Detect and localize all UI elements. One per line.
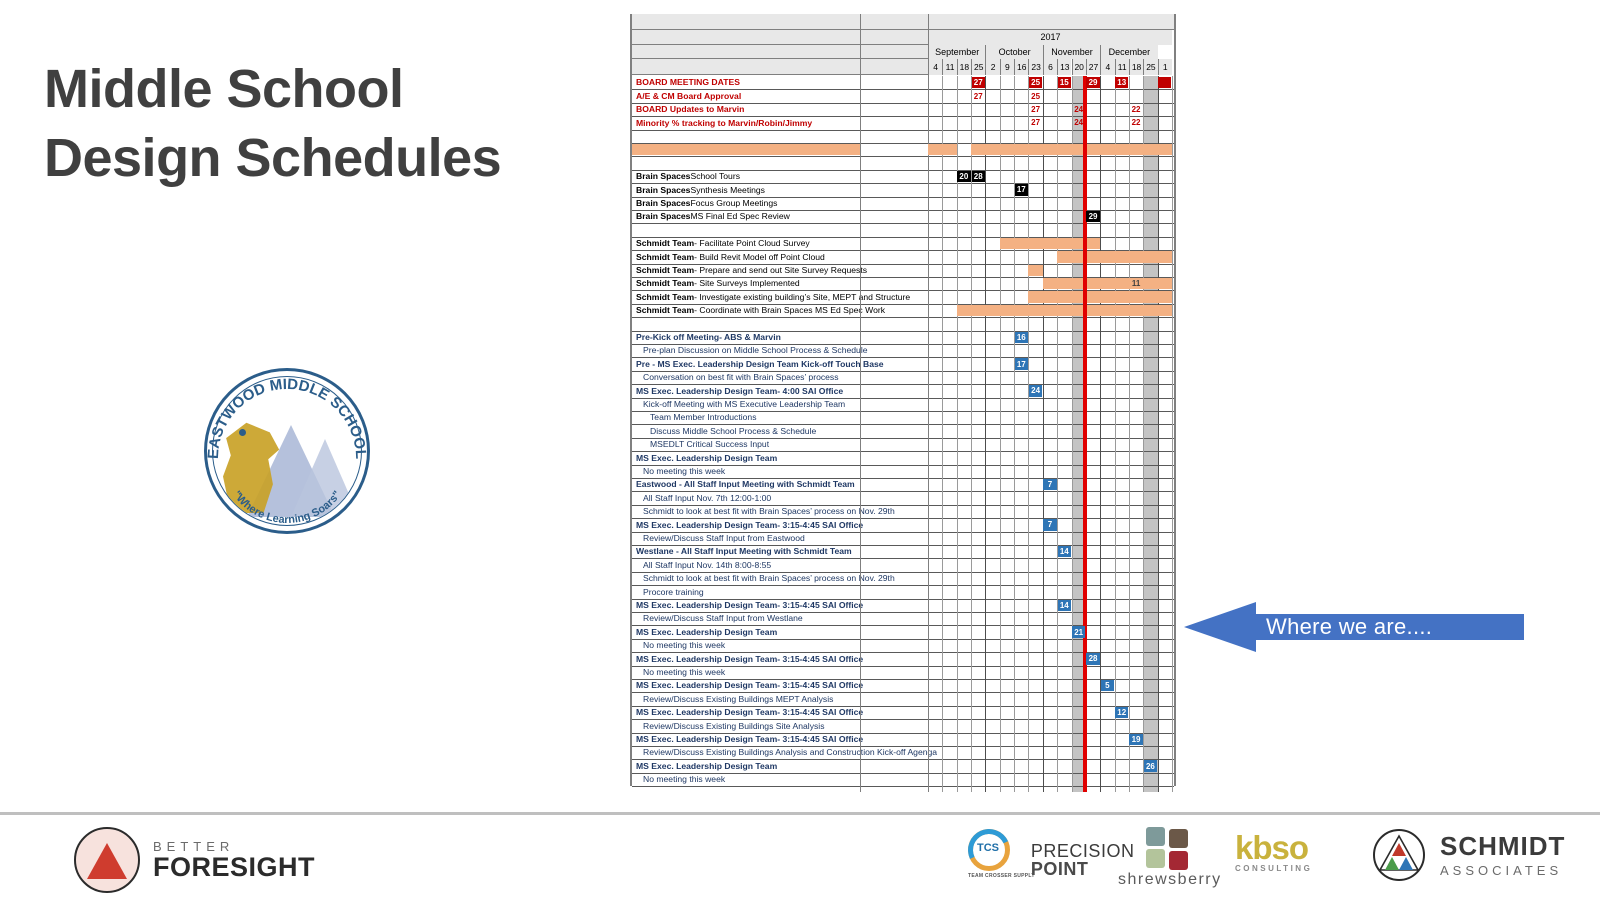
- table-row: [632, 156, 1174, 169]
- row-label-primary: Pre - MS Exec. Leadership Design Team Ki…: [636, 360, 884, 369]
- row-label-secondary: Schmidt to look at best fit with Brain S…: [643, 507, 895, 516]
- eastwood-middle-school-seal: EASTWOOD MIDDLE SCHOOL "Where Learning S…: [196, 362, 386, 544]
- date-badge: 17: [1015, 184, 1028, 195]
- gantt-month-header: October: [985, 45, 1042, 59]
- row-label-secondary: School Tours: [690, 172, 740, 181]
- row-label-secondary: - Coordinate with Brain Spaces MS Ed Spe…: [694, 306, 885, 315]
- row-label-secondary: Kick-off Meeting with MS Executive Leade…: [643, 400, 845, 409]
- schmidt-line1: SCHMIDT: [1440, 833, 1565, 859]
- row-label-primary: MS Exec. Leadership Design Team: [636, 601, 777, 610]
- row-label: MS Exec. Leadership Design Team - 3:15-4…: [636, 599, 863, 612]
- row-label-primary: Brain Spaces: [636, 172, 690, 181]
- row-label-secondary: Procore training: [643, 588, 704, 597]
- seal-lettering: EASTWOOD MIDDLE SCHOOL "Where Learning S…: [196, 362, 378, 544]
- row-label-secondary: Pre-plan Discussion on Middle School Pro…: [643, 346, 868, 355]
- row-label: Brain Spaces MS Final Ed Spec Review: [636, 210, 790, 223]
- gantt-week-header: 25: [971, 59, 985, 75]
- gantt-week-header: 1: [1158, 59, 1172, 75]
- gantt-week-header: 25: [1143, 59, 1157, 75]
- row-label: Minority % tracking to Marvin/Robin/Jimm…: [636, 116, 812, 129]
- grid-line: [1143, 76, 1144, 792]
- title-line-1: Middle School: [44, 55, 604, 124]
- row-label: Review/Discuss Existing Buildings Site A…: [643, 719, 825, 732]
- logo-better-foresight: BETTER FORESIGHT: [74, 827, 315, 893]
- row-label-secondary: - 3:15-4:45 SAI Office: [777, 521, 863, 530]
- row-label: Conversation on best fit with Brain Spac…: [643, 371, 839, 384]
- date-badge: 27: [972, 90, 985, 101]
- row-label-primary: MS Exec. Leadership Design Team: [636, 655, 777, 664]
- row-label: Schmidt Team - Coordinate with Brain Spa…: [636, 304, 885, 317]
- row-label: MS Exec. Leadership Design Team - 3:15-4…: [636, 706, 863, 719]
- grid-line: [1129, 76, 1130, 792]
- row-label-primary: Pre-Kick off Meeting: [636, 333, 719, 342]
- date-badge: 24: [1072, 104, 1085, 115]
- grid-line: [1028, 76, 1029, 792]
- row-label-primary: Brain Spaces: [636, 212, 690, 221]
- gantt-section-band: [632, 144, 860, 155]
- row-label-secondary: - 3:15-4:45 SAI Office: [777, 708, 863, 717]
- seal-name-text: EASTWOOD MIDDLE SCHOOL: [205, 376, 369, 460]
- row-label-primary: MS Exec. Leadership Design Team: [636, 735, 777, 744]
- row-label: MS Exec. Leadership Design Team - 4:00 S…: [636, 384, 843, 397]
- row-label-primary: MS Exec. Leadership Design Team: [636, 762, 777, 771]
- logo-tcs-precision-point: TCS TEAM CROSSER SUPPLY PRECISION POINT: [968, 829, 1134, 879]
- row-label: No meeting this week: [643, 666, 725, 679]
- row-label-primary: Schmidt Team: [636, 306, 694, 315]
- date-badge: 29: [1086, 211, 1099, 222]
- row-label: Review/Discuss Existing Buildings MEPT A…: [643, 692, 833, 705]
- row-label: All Staff Input Nov. 14th 8:00-8:55: [643, 558, 771, 571]
- row-label-primary: Westlane - All Staff Input Meeting with …: [636, 547, 852, 556]
- gantt-week-header: 18: [957, 59, 971, 75]
- gantt-bar: [957, 305, 1172, 316]
- table-row: [632, 130, 1174, 143]
- gantt-bar: [971, 144, 1172, 155]
- row-label-primary: Schmidt Team: [636, 253, 694, 262]
- gantt-week-header: 11: [1115, 59, 1129, 75]
- row-label-primary: Minority % tracking to Marvin/Robin/Jimm…: [636, 119, 812, 128]
- row-label: Schmidt Team - Site Surveys Implemented: [636, 277, 800, 290]
- row-label-secondary: - Investigate existing building’s Site, …: [694, 293, 910, 302]
- row-label-secondary: Conversation on best fit with Brain Spac…: [643, 373, 839, 382]
- schmidt-line2: ASSOCIATES: [1440, 864, 1565, 877]
- gantt-week-header: 13: [1057, 59, 1071, 75]
- date-badge: 12: [1115, 707, 1128, 718]
- row-label-secondary: Review/Discuss Existing Buildings Analys…: [643, 748, 937, 757]
- date-badge: 24: [1029, 385, 1042, 396]
- seal-tagline-text: "Where Learning Soars": [230, 489, 343, 526]
- gantt-week-header: 4: [1100, 59, 1114, 75]
- row-label-secondary: No meeting this week: [643, 467, 725, 476]
- row-label-secondary: Review/Discuss Existing Buildings MEPT A…: [643, 695, 833, 704]
- row-label: No meeting this week: [643, 773, 725, 786]
- tcs-mark-text: TCS: [977, 842, 999, 854]
- row-label: Review/Discuss Staff Input from Eastwood: [643, 532, 805, 545]
- date-badge: 25: [1029, 77, 1042, 88]
- gantt-bar: [928, 144, 957, 155]
- row-label-secondary: - Build Revit Model off Point Cloud: [694, 253, 825, 262]
- row-label-secondary: - 3:15-4:45 SAI Office: [777, 681, 863, 690]
- gantt-month-row-left: [632, 45, 928, 59]
- row-label: Schmidt to look at best fit with Brain S…: [643, 505, 895, 518]
- shrewsberry-text: shrewsberry: [1118, 871, 1222, 889]
- date-badge: 26: [1144, 760, 1157, 771]
- shrewsberry-squares-icon: [1146, 827, 1194, 871]
- row-label: Schmidt Team - Build Revit Model off Poi…: [636, 250, 825, 263]
- row-label: BOARD MEETING DATES: [636, 76, 740, 89]
- date-badge: 27: [1029, 104, 1042, 115]
- grid-line: [957, 76, 958, 792]
- today-marker: [1083, 76, 1087, 792]
- date-badge: 7: [1043, 519, 1056, 530]
- row-label: Brain Spaces Focus Group Meetings: [636, 197, 777, 210]
- row-label-secondary: - 3:15-4:45 SAI Office: [777, 655, 863, 664]
- row-label-primary: Brain Spaces: [636, 186, 690, 195]
- row-label-primary: MS Exec. Leadership Design Team: [636, 708, 777, 717]
- row-label: MS Exec. Leadership Design Team: [636, 625, 777, 638]
- date-badge: 25: [1029, 90, 1042, 101]
- gantt-week-row-left: [632, 59, 928, 75]
- date-badge: 21: [1072, 626, 1085, 637]
- date-badge: 7: [1043, 479, 1056, 490]
- row-label-secondary: - Prepare and send out Site Survey Reque…: [694, 266, 867, 275]
- date-badge: 14: [1058, 546, 1071, 557]
- gantt-week-header: 27: [1086, 59, 1100, 75]
- row-label-primary: MS Exec. Leadership Design Team: [636, 628, 777, 637]
- grid-line: [1043, 76, 1044, 792]
- grid-line: [1158, 76, 1159, 792]
- row-label-primary: MS Exec. Leadership Design Team: [636, 681, 777, 690]
- design-schedule-gantt-chart[interactable]: 2017SeptemberOctoberNovemberDecember4111…: [630, 14, 1176, 786]
- date-badge: [1158, 77, 1171, 88]
- row-label: MSEDLT Critical Success Input: [650, 438, 769, 451]
- row-divider: [632, 786, 1174, 787]
- svg-text:EASTWOOD MIDDLE SCHOOL: EASTWOOD MIDDLE SCHOOL: [205, 376, 369, 460]
- row-label-secondary: No meeting this week: [643, 775, 725, 784]
- row-label-primary: Schmidt Team: [636, 239, 694, 248]
- row-label-secondary: - 3:15-4:45 SAI Office: [777, 601, 863, 610]
- gantt-week-header: 2: [985, 59, 999, 75]
- schmidt-triangle-icon: [1372, 828, 1426, 882]
- row-label-secondary: Review/Discuss Staff Input from Westlane: [643, 614, 803, 623]
- gantt-week-header: 23: [1028, 59, 1042, 75]
- date-badge: 11: [1129, 278, 1142, 289]
- row-label-secondary: Review/Discuss Existing Buildings Site A…: [643, 722, 825, 731]
- date-badge: 28: [972, 171, 985, 182]
- label-column-divider: [860, 14, 861, 792]
- date-badge: 29: [1086, 77, 1099, 88]
- row-label: MS Exec. Leadership Design Team: [636, 759, 777, 772]
- row-label-primary: Eastwood - All Staff Input Meeting with …: [636, 480, 855, 489]
- row-label: No meeting this week: [643, 465, 725, 478]
- row-label-secondary: - Facilitate Point Cloud Survey: [694, 239, 810, 248]
- gantt-week-header: 18: [1129, 59, 1143, 75]
- kbso-subtitle: CONSULTING: [1235, 864, 1312, 873]
- date-badge: 15: [1058, 77, 1071, 88]
- grid-line: [942, 76, 943, 792]
- row-label: MS Exec. Leadership Design Team: [636, 451, 777, 464]
- date-badge: 24: [1072, 117, 1085, 128]
- row-label-primary: Schmidt Team: [636, 266, 694, 275]
- tcs-subtitle: TEAM CROSSER SUPPLY: [968, 873, 1035, 879]
- where-we-are-callout: Where we are....: [1184, 602, 1524, 652]
- gantt-year-header: 2017: [928, 30, 1172, 45]
- row-label-primary: Schmidt Team: [636, 279, 694, 288]
- row-label-secondary: MS Final Ed Spec Review: [690, 212, 789, 221]
- row-label-secondary: - 4:00 SAI Office: [777, 387, 843, 396]
- row-label: Kick-off Meeting with MS Executive Leade…: [643, 398, 845, 411]
- logo-shrewsberry: shrewsberry: [1118, 827, 1222, 889]
- date-badge: 20: [957, 171, 970, 182]
- date-badge: 28: [1086, 653, 1099, 664]
- row-label: Procore training: [643, 585, 704, 598]
- better-foresight-line2: FORESIGHT: [153, 854, 315, 881]
- grid-line: [1000, 76, 1001, 792]
- row-label: Pre - MS Exec. Leadership Design Team Ki…: [636, 357, 884, 370]
- row-label: Team Member Introductions: [650, 411, 757, 424]
- row-label-secondary: No meeting this week: [643, 641, 725, 650]
- logo-kbso-consulting: kbso CONSULTING: [1235, 831, 1312, 873]
- row-label-primary: Schmidt Team: [636, 293, 694, 302]
- row-label-primary: BOARD Updates to Marvin: [636, 105, 744, 114]
- table-row: [632, 317, 1174, 330]
- gantt-week-header: 4: [928, 59, 942, 75]
- kbso-text: kbso: [1235, 831, 1312, 864]
- gantt-bar: [1057, 251, 1172, 262]
- row-label-primary: MS Exec. Leadership Design Team: [636, 521, 777, 530]
- gantt-week-header: 11: [942, 59, 956, 75]
- row-label: Brain Spaces Synthesis Meetings: [636, 183, 765, 196]
- row-label-secondary: - Site Surveys Implemented: [694, 279, 800, 288]
- row-label: MS Exec. Leadership Design Team - 3:15-4…: [636, 733, 863, 746]
- row-label-secondary: All Staff Input Nov. 7th 12:00-1:00: [643, 494, 771, 503]
- row-label-secondary: Synthesis Meetings: [690, 186, 765, 195]
- gantt-week-header: 6: [1043, 59, 1057, 75]
- row-label: Schmidt to look at best fit with Brain S…: [643, 572, 895, 585]
- row-label: Pre-plan Discussion on Middle School Pro…: [643, 344, 868, 357]
- gantt-bar: [1028, 265, 1042, 276]
- row-label-secondary: - 3:15-4:45 SAI Office: [777, 735, 863, 744]
- label-column-divider: [928, 14, 929, 792]
- row-label: Westlane - All Staff Input Meeting with …: [636, 545, 852, 558]
- grid-line: [971, 76, 972, 792]
- row-label-primary: MS Exec. Leadership Design Team: [636, 387, 777, 396]
- grid-line: [1072, 76, 1073, 792]
- page-title: Middle School Design Schedules: [44, 55, 604, 193]
- gantt-bar: [1028, 291, 1172, 302]
- row-label: Pre-Kick off Meeting - ABS & Marvin: [636, 331, 781, 344]
- grid-line: [985, 76, 986, 792]
- date-badge: 17: [1015, 358, 1028, 369]
- row-label-secondary: Discuss Middle School Process & Schedule: [650, 427, 816, 436]
- row-label: Schmidt Team - Facilitate Point Cloud Su…: [636, 237, 810, 250]
- callout-label: Where we are....: [1266, 602, 1432, 652]
- row-label: No meeting this week: [643, 639, 725, 652]
- row-label-secondary: All Staff Input Nov. 14th 8:00-8:55: [643, 561, 771, 570]
- date-badge: 16: [1015, 332, 1028, 343]
- grid-line: [1172, 76, 1173, 792]
- grid-line: [1057, 76, 1058, 792]
- grid-line: [1115, 76, 1116, 792]
- gantt-week-header: 16: [1014, 59, 1028, 75]
- row-label-primary: BOARD MEETING DATES: [636, 78, 740, 87]
- row-label-secondary: Focus Group Meetings: [690, 199, 777, 208]
- table-row: [632, 585, 1174, 598]
- gantt-week-header: 9: [1000, 59, 1014, 75]
- row-label-primary: MS Exec. Leadership Design Team: [636, 454, 777, 463]
- row-label: MS Exec. Leadership Design Team - 3:15-4…: [636, 652, 863, 665]
- row-label-secondary: Schmidt to look at best fit with Brain S…: [643, 574, 895, 583]
- gantt-header-blank: [632, 14, 1174, 30]
- gantt-bar: [1043, 278, 1172, 289]
- row-label: MS Exec. Leadership Design Team - 3:15-4…: [636, 679, 863, 692]
- better-foresight-circle-icon: [74, 827, 140, 893]
- date-badge: 19: [1129, 734, 1142, 745]
- logo-schmidt-associates: SCHMIDT ASSOCIATES: [1372, 828, 1565, 882]
- row-label: Review/Discuss Existing Buildings Analys…: [643, 746, 937, 759]
- gantt-week-header: 20: [1072, 59, 1086, 75]
- row-label-secondary: Team Member Introductions: [650, 413, 757, 422]
- footer-logo-bar: BETTER FORESIGHT TCS TEAM CROSSER SUPPLY…: [0, 815, 1600, 900]
- gantt-year-row-left: [632, 30, 928, 45]
- date-badge: 5: [1101, 680, 1114, 691]
- row-label: All Staff Input Nov. 7th 12:00-1:00: [643, 491, 771, 504]
- row-label-primary: Brain Spaces: [636, 199, 690, 208]
- gantt-month-header: December: [1100, 45, 1157, 59]
- gantt-month-header: September: [928, 45, 985, 59]
- gantt-month-header: November: [1043, 45, 1100, 59]
- row-label: Schmidt Team - Investigate existing buil…: [636, 290, 910, 303]
- date-badge: 14: [1058, 600, 1071, 611]
- row-label-secondary: MSEDLT Critical Success Input: [650, 440, 769, 449]
- row-label-secondary: Review/Discuss Staff Input from Eastwood: [643, 534, 805, 543]
- row-label: Discuss Middle School Process & Schedule: [650, 424, 816, 437]
- table-row: [632, 223, 1174, 236]
- date-badge: 22: [1129, 117, 1142, 128]
- row-label-secondary: No meeting this week: [643, 668, 725, 677]
- title-line-2: Design Schedules: [44, 124, 604, 193]
- row-label: Review/Discuss Staff Input from Westlane: [643, 612, 803, 625]
- row-label: Schmidt Team - Prepare and send out Site…: [636, 264, 867, 277]
- date-badge: 13: [1115, 77, 1128, 88]
- svg-text:"Where Learning Soars": "Where Learning Soars": [230, 489, 343, 526]
- row-label-secondary: - ABS & Marvin: [719, 333, 781, 342]
- row-label: MS Exec. Leadership Design Team - 3:15-4…: [636, 518, 863, 531]
- red-triangle-icon: [87, 843, 127, 879]
- row-label: BOARD Updates to Marvin: [636, 103, 744, 116]
- row-label: A/E & CM Board Approval: [636, 89, 741, 102]
- row-label: Eastwood - All Staff Input Meeting with …: [636, 478, 855, 491]
- date-badge: 27: [972, 77, 985, 88]
- row-label: Brain Spaces School Tours: [636, 170, 740, 183]
- row-label-primary: A/E & CM Board Approval: [636, 92, 741, 101]
- date-badge: 22: [1129, 104, 1142, 115]
- date-badge: 27: [1029, 117, 1042, 128]
- gantt-grid: 2017SeptemberOctoberNovemberDecember4111…: [632, 14, 1174, 786]
